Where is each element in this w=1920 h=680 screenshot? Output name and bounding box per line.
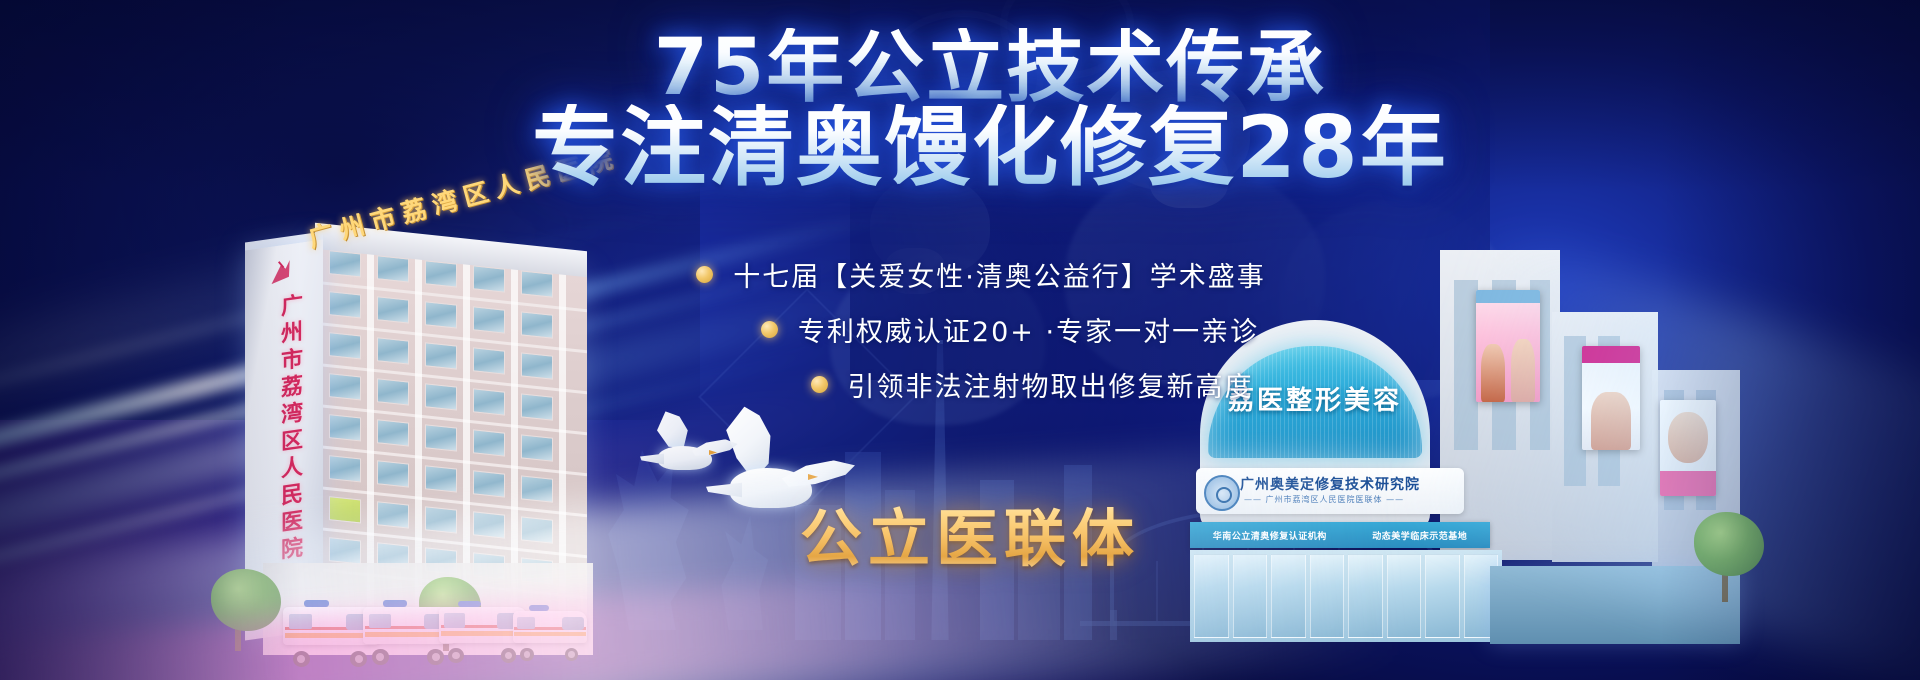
bullet-text: 专利权威认证20+ ·专家一对一亲诊 [798, 310, 1259, 349]
hospital-vertical-sign: 广州市荔湾区人民医院 [259, 292, 305, 568]
bullet-item: 引领非法注射物取出修复新高度 [470, 365, 1510, 404]
headline-line-1: 75年公立技术传承 [490, 28, 1490, 108]
headline: 75年公立技术传承 专注清奥馒化修复28年 [490, 28, 1490, 193]
bullet-item: 十七届【关爱女性·清奥公益行】学术盛事 [470, 255, 1510, 294]
bullet-text: 十七届【关爱女性·清奥公益行】学术盛事 [733, 255, 1266, 294]
headline-line-2: 专注清奥馒化修复28年 [490, 104, 1490, 193]
peace-dove-icon [634, 424, 734, 482]
promo-banner: 广州市荔湾区人民医院 广州市荔湾区人民医院 [0, 0, 1920, 680]
bullet-dot-icon [761, 321, 778, 338]
bullet-dot-icon [696, 266, 713, 283]
bullet-dot-icon [811, 376, 828, 393]
bullet-list: 十七届【关爱女性·清奥公益行】学术盛事 专利权威认证20+ ·专家一对一亲诊 引… [470, 255, 1510, 420]
bullet-item: 专利权威认证20+ ·专家一对一亲诊 [470, 310, 1510, 349]
gold-tagline: 公立医联体 [800, 488, 1140, 578]
bullet-text: 引领非法注射物取出修复新高度 [848, 365, 1254, 404]
